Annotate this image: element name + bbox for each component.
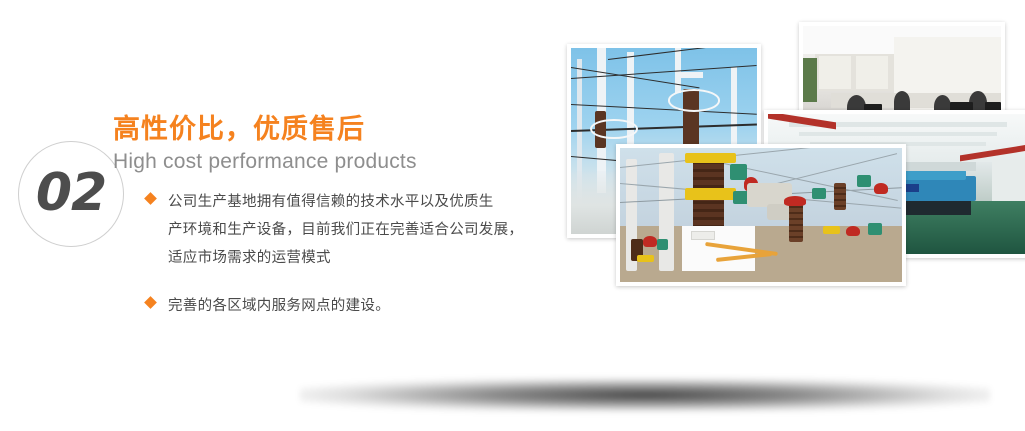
- photo-reflection-switchgear: [616, 286, 906, 340]
- photo-collage: [0, 0, 1025, 431]
- slide-canvas: 02 高性价比，优质售后 High cost performance produ…: [0, 0, 1025, 431]
- bottom-shadow: [300, 378, 990, 412]
- photo-switchgear-closeup-image: [620, 148, 902, 282]
- photo-switchgear-closeup: [616, 144, 906, 286]
